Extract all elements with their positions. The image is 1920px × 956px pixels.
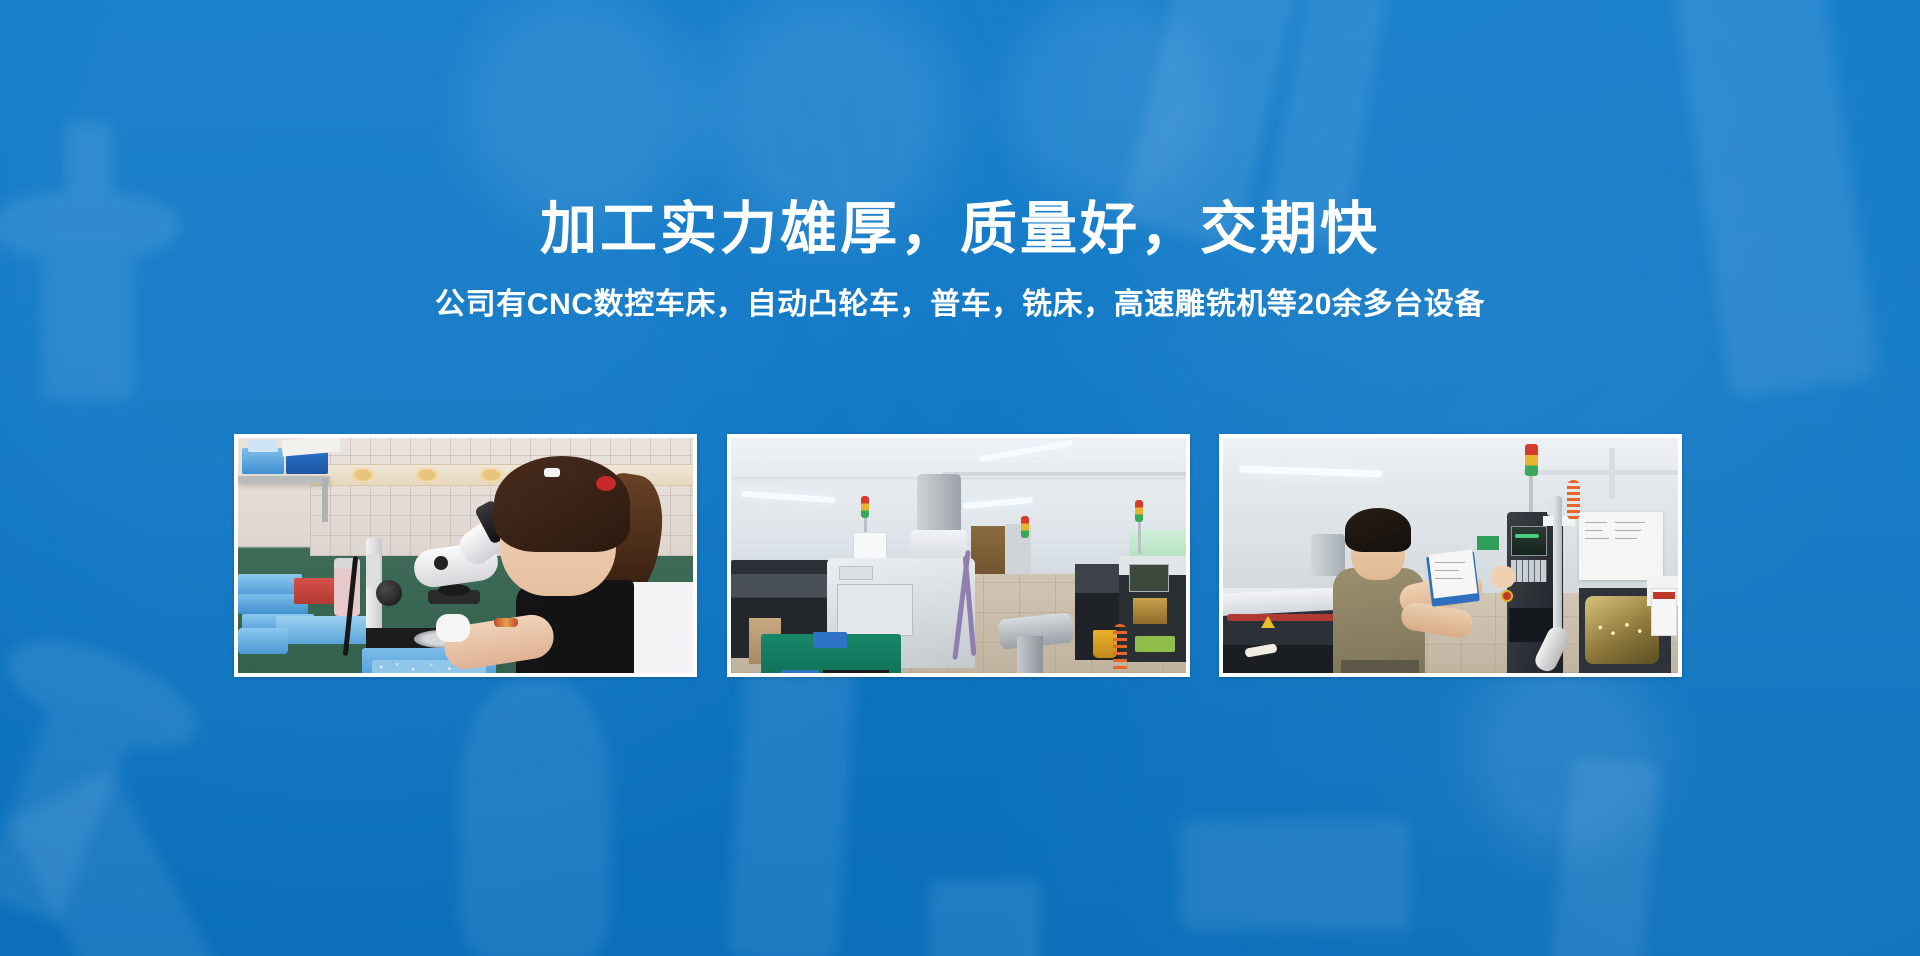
photo-image-operator-at-control-panel (1223, 438, 1678, 673)
photo-image-cnc-workshop-floor (731, 438, 1186, 673)
photo-image-microscope-inspection (238, 438, 693, 673)
capability-banner: 加工实力雄厚，质量好，交期快 公司有CNC数控车床，自动凸轮车，普车，铣床，高速… (0, 0, 1920, 956)
watermark-bar-icon (930, 880, 1040, 956)
photo-card-microscope-inspection (234, 434, 697, 677)
photo-card-operator-at-control-panel (1219, 434, 1682, 677)
watermark-bar-icon (460, 680, 610, 956)
photo-card-cnc-workshop-floor (727, 434, 1190, 677)
banner-text-block: 加工实力雄厚，质量好，交期快 公司有CNC数控车床，自动凸轮车，普车，铣床，高速… (0, 196, 1920, 324)
photo-strip (234, 434, 1682, 677)
banner-headline: 加工实力雄厚，质量好，交期快 (0, 196, 1920, 263)
watermark-bar-icon (1180, 820, 1410, 930)
banner-subheadline: 公司有CNC数控车床，自动凸轮车，普车，铣床，高速雕铣机等20余多台设备 (0, 285, 1920, 324)
